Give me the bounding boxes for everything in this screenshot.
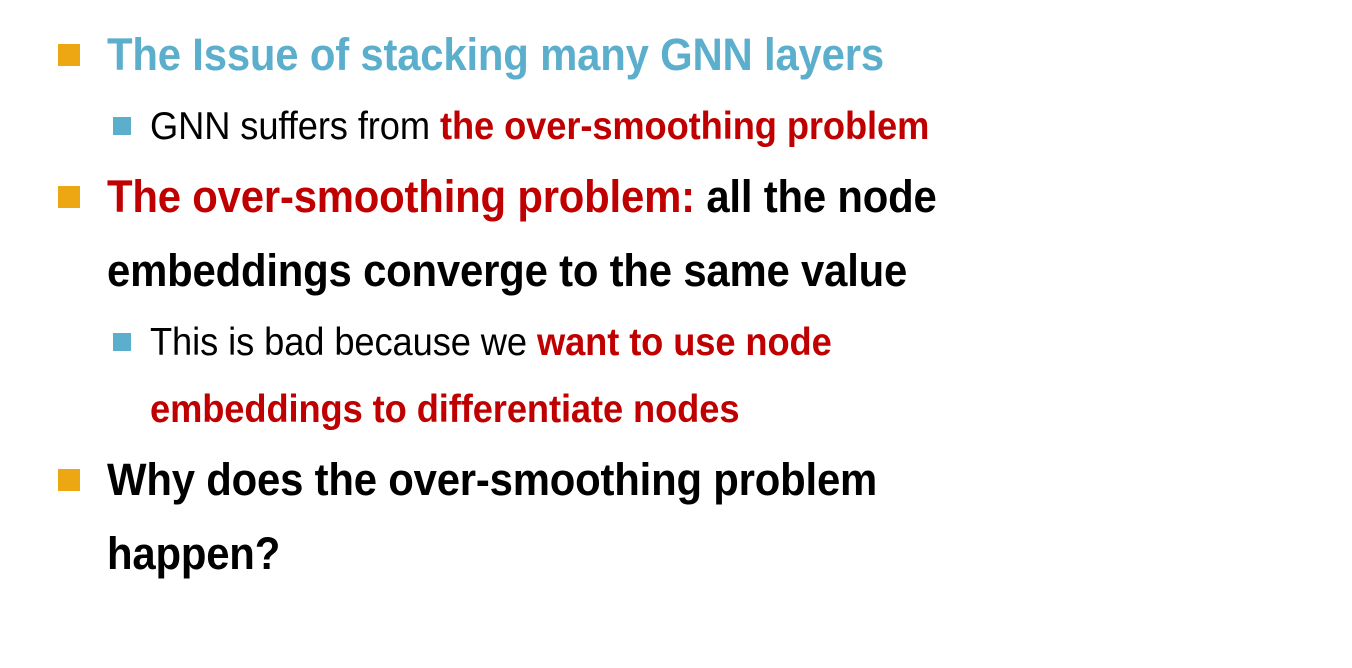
bullet-1-run-blue: The Issue of stacking many GNN layers [107,29,884,80]
bullet-3-run-black-2: embeddings converge to the same value [107,234,1246,307]
bullet-item-1: The Issue of stacking many GNN layers [0,18,1332,91]
bullet-4-run-red-2: embeddings to differentiate nodes [150,376,1249,443]
bullet-2-run-red: the over-smoothing problem [440,105,929,148]
orange-square-bullet-icon [58,469,80,491]
bullet-5-line-1: Why does the over-smoothing problem [107,443,1246,516]
bullet-item-2: GNN suffers from the over-smoothing prob… [0,93,1332,160]
slide-canvas: The Issue of stacking many GNN layers GN… [0,0,1352,668]
bullet-text-3: The over-smoothing problem: all the node… [107,160,1246,307]
bullet-text-4: This is bad because we want to use node … [150,309,1249,443]
orange-square-bullet-icon [58,44,80,66]
bullet-text-1: The Issue of stacking many GNN layers [107,18,1246,91]
bullet-3-line-1: The over-smoothing problem: all the node [107,160,1246,233]
bullet-4-run-black: This is bad because we [150,321,537,364]
orange-square-bullet-icon [58,186,80,208]
blue-square-bullet-icon [113,333,131,351]
bullet-2-run-black: GNN suffers from [150,105,440,148]
bullet-text-2: GNN suffers from the over-smoothing prob… [150,93,1249,160]
bullet-5-line-2: happen? [107,517,1246,590]
bullet-list: The Issue of stacking many GNN layers GN… [0,18,1332,590]
bullet-3-run-red: The over-smoothing problem: [107,171,695,222]
bullet-item-3: The over-smoothing problem: all the node… [0,160,1332,307]
bullet-4-line-1: This is bad because we want to use node [150,309,1249,376]
bullet-4-run-red-1: want to use node [537,321,832,364]
bullet-item-5: Why does the over-smoothing problem happ… [0,443,1332,590]
bullet-item-4: This is bad because we want to use node … [0,309,1332,443]
blue-square-bullet-icon [113,117,131,135]
bullet-3-run-black-1: all the node [695,171,937,222]
bullet-text-5: Why does the over-smoothing problem happ… [107,443,1246,590]
